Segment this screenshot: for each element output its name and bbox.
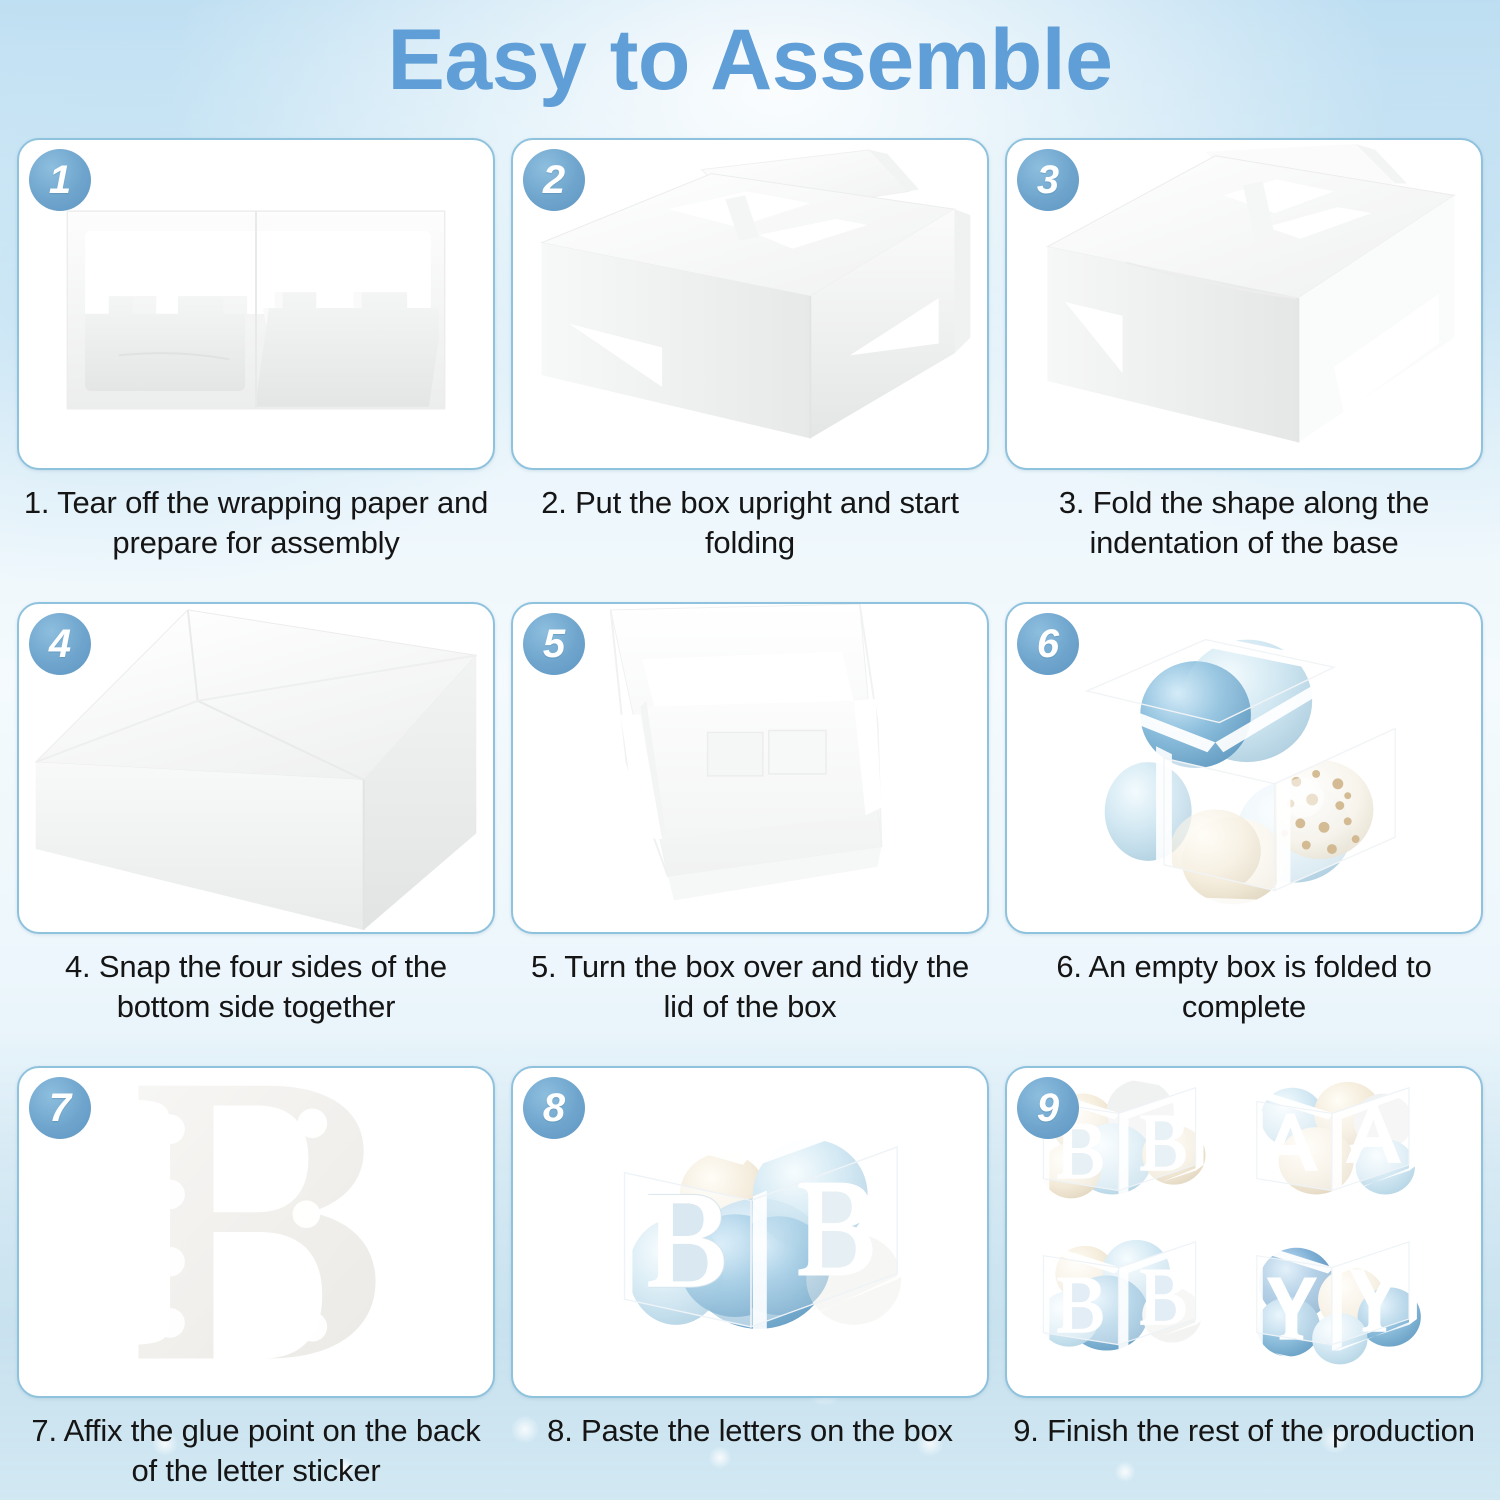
step-caption-9: 9. Finish the rest of the production xyxy=(1007,1411,1481,1451)
step-7-illustration xyxy=(19,1068,493,1396)
step-cell-6: 6 6. An empty box is folded to complete xyxy=(1005,602,1483,1052)
step-caption-7: 7. Affix the glue point on the back of t… xyxy=(19,1411,493,1491)
step-caption-2: 2. Put the box upright and start folding xyxy=(513,483,987,563)
page-title: Easy to Assemble xyxy=(0,14,1500,107)
step-badge-9: 9 xyxy=(1017,1077,1079,1139)
step-card-9: 9 xyxy=(1005,1066,1483,1398)
step-3-illustration xyxy=(1007,140,1481,468)
step-badge-4: 4 xyxy=(29,613,91,675)
step-caption-4: 4. Snap the four sides of the bottom sid… xyxy=(19,947,493,1027)
step-cell-7: 7 7. Affix the glue point on the back of… xyxy=(17,1066,495,1500)
step-badge-6: 6 xyxy=(1017,613,1079,675)
instruction-poster: Easy to Assemble xyxy=(0,0,1500,1500)
step-5-illustration xyxy=(513,604,987,932)
step-cell-9: 9 9. Finish the rest of the production xyxy=(1005,1066,1483,1500)
step-1-illustration xyxy=(19,140,493,468)
steps-grid: 1 1. Tear off the wrapping paper and pre… xyxy=(17,138,1483,1488)
step-card-7: 7 xyxy=(17,1066,495,1398)
step-cell-4: 4 4. Snap the four sides of the bottom s… xyxy=(17,602,495,1052)
step-badge-3: 3 xyxy=(1017,149,1079,211)
step-9-illustration xyxy=(1007,1068,1481,1396)
step-badge-1: 1 xyxy=(29,149,91,211)
step-6-illustration xyxy=(1007,604,1481,932)
step-card-5: 5 xyxy=(511,602,989,934)
step-2-illustration xyxy=(513,140,987,468)
step-cell-1: 1 1. Tear off the wrapping paper and pre… xyxy=(17,138,495,588)
step-card-1: 1 xyxy=(17,138,495,470)
step-caption-5: 5. Turn the box over and tidy the lid of… xyxy=(513,947,987,1027)
step-caption-6: 6. An empty box is folded to complete xyxy=(1007,947,1481,1027)
step-badge-8: 8 xyxy=(523,1077,585,1139)
step-caption-3: 3. Fold the shape along the indentation … xyxy=(1007,483,1481,563)
step-card-2: 2 xyxy=(511,138,989,470)
step-caption-1: 1. Tear off the wrapping paper and prepa… xyxy=(19,483,493,563)
step-badge-5: 5 xyxy=(523,613,585,675)
step-card-3: 3 xyxy=(1005,138,1483,470)
step-badge-7: 7 xyxy=(29,1077,91,1139)
step-cell-8: 8 8. Paste the letters on the box xyxy=(511,1066,989,1500)
step-cell-2: 2 2. Put the box upright and start foldi… xyxy=(511,138,989,588)
step-card-4: 4 xyxy=(17,602,495,934)
step-caption-8: 8. Paste the letters on the box xyxy=(513,1411,987,1451)
step-cell-5: 5 5. Turn the box over and tidy the lid … xyxy=(511,602,989,1052)
step-cell-3: 3 3. Fold the shape along the indentatio… xyxy=(1005,138,1483,588)
step-card-8: 8 xyxy=(511,1066,989,1398)
step-4-illustration xyxy=(19,604,493,932)
step-8-illustration xyxy=(513,1068,987,1396)
step-card-6: 6 xyxy=(1005,602,1483,934)
step-badge-2: 2 xyxy=(523,149,585,211)
